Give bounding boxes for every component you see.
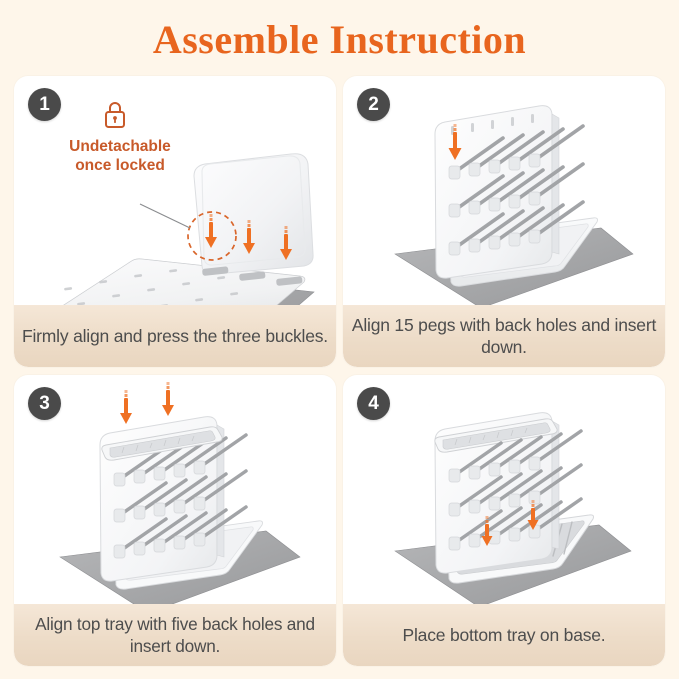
step-caption-2: Align 15 pegs with back holes and insert… <box>343 305 665 367</box>
step-badge-1: 1 <box>28 88 61 121</box>
steps-grid: Undetachable once locked 1 Firmly align … <box>14 76 665 666</box>
step-panel-2[interactable]: 2 Align 15 pegs with back holes and inse… <box>343 76 665 367</box>
step-caption-text-1: Firmly align and press the three buckles… <box>14 325 336 347</box>
step-badge-3: 3 <box>28 387 61 420</box>
step-badge-4: 4 <box>357 387 390 420</box>
infographic-page: Assemble Instruction <box>0 0 679 679</box>
insertion-arrows <box>120 382 174 424</box>
step-caption-4: Place bottom tray on base. <box>343 604 665 666</box>
page-title: Assemble Instruction <box>0 16 679 64</box>
step-panel-1[interactable]: Undetachable once locked 1 Firmly align … <box>14 76 336 367</box>
step-caption-text-4: Place bottom tray on base. <box>395 624 614 646</box>
step-caption-3: Align top tray with five back holes and … <box>14 604 336 666</box>
step-badge-2: 2 <box>357 88 390 121</box>
leader-line <box>140 204 190 228</box>
step-caption-1: Firmly align and press the three buckles… <box>14 305 336 367</box>
step-caption-text-3: Align top tray with five back holes and … <box>14 613 336 657</box>
back-board <box>194 154 313 274</box>
step-caption-text-2: Align 15 pegs with back holes and insert… <box>343 314 665 358</box>
step-panel-3[interactable]: 3 Align top tray with five back holes an… <box>14 375 336 666</box>
step-panel-4[interactable]: 4 Place bottom tray on base. <box>343 375 665 666</box>
